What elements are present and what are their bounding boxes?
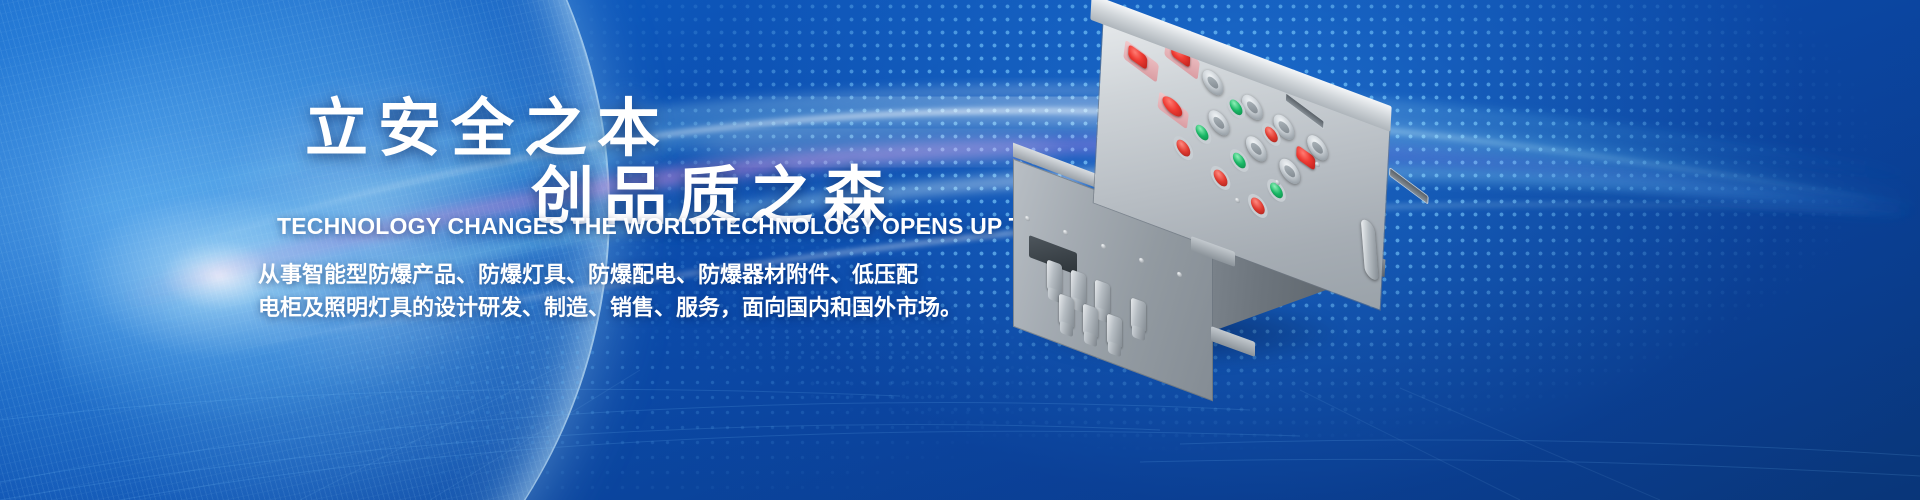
banner-copy-block: 立安全之本 创品质之森 TECHNOLOGY CHANGES THE WORLD… [0, 0, 1100, 500]
description-paragraph: 从事智能型防爆产品、防爆灯具、防爆配电、防爆器材附件、低压配 电柜及照明灯具的设… [258, 258, 918, 324]
cable-gland-5 [1083, 303, 1098, 338]
push-button-green-2[interactable] [1195, 122, 1208, 144]
selector-switch-1[interactable] [1202, 65, 1224, 100]
push-button-green-3[interactable] [1233, 150, 1246, 172]
cable-gland-7 [1131, 297, 1146, 332]
push-button-green-1[interactable] [1229, 96, 1242, 118]
selector-switch-6[interactable] [1245, 131, 1267, 166]
description-line-2: 电柜及照明灯具的设计研发、制造、销售、服务，面向国内和国外市场。 [258, 291, 918, 324]
explosion-proof-control-box-image [995, 48, 1415, 388]
push-button-red-2[interactable] [1213, 166, 1227, 189]
cable-gland-6 [1107, 313, 1122, 348]
cable-gland-1 [1047, 259, 1062, 294]
cable-gland-4 [1059, 293, 1074, 328]
push-button-red-1[interactable] [1176, 136, 1190, 159]
selector-switch-5[interactable] [1208, 105, 1230, 140]
description-line-1: 从事智能型防爆产品、防爆灯具、防爆配电、防爆器材附件、低压配 [258, 258, 918, 291]
door-lever-handle[interactable] [1361, 217, 1379, 283]
hero-banner: 立安全之本 创品质之森 TECHNOLOGY CHANGES THE WORLD… [0, 0, 1920, 500]
push-button-red-3[interactable] [1251, 194, 1265, 217]
selector-switch-2[interactable] [1241, 90, 1263, 125]
